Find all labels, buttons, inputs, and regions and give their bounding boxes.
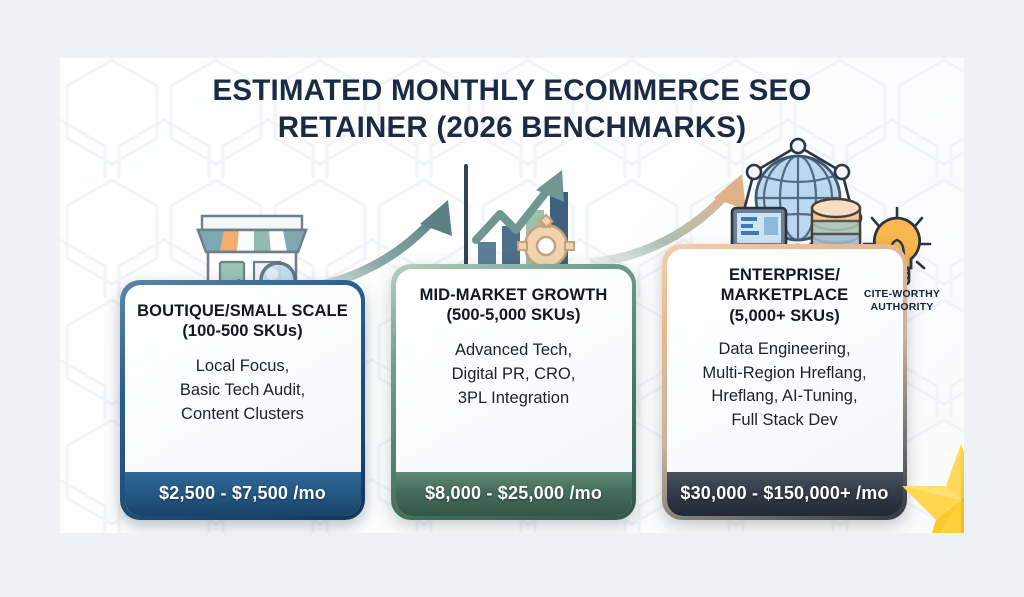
pricing-card-enterprise[interactable]: ENTERPRISE/ MARKETPLACE (5,000+ SKUs) Da… <box>662 244 907 520</box>
badge-line-2: AUTHORITY <box>848 301 956 314</box>
card-services: Advanced Tech, Digital PR, CRO, 3PL Inte… <box>406 339 622 410</box>
card-scale: (500-5,000 SKUs) <box>406 305 622 326</box>
card-price: $30,000 - $150,000+ /mo <box>667 472 903 516</box>
title-line-1: ESTIMATED MONTHLY ECOMMERCE SEO <box>213 74 812 107</box>
badge-line-1: CITE-WORTHY <box>848 288 956 301</box>
pricing-card-boutique[interactable]: BOUTIQUE/SMALL SCALE (100-500 SKUs) Loca… <box>120 280 365 520</box>
card-price: $2,500 - $7,500 /mo <box>125 472 361 516</box>
status-badge: CITE-WORTHY AUTHORITY <box>848 288 956 314</box>
card-price: $8,000 - $25,000 /mo <box>396 472 632 516</box>
title-line-2: RETAINER (2026 BENCHMARKS) <box>60 109 964 146</box>
card-services: Local Focus, Basic Tech Audit, Content C… <box>135 355 351 426</box>
pricing-card-midmarket[interactable]: MID-MARKET GROWTH (500-5,000 SKUs) Advan… <box>391 264 636 520</box>
gold-star-icon <box>898 440 964 533</box>
card-title: MID-MARKET GROWTH <box>406 285 622 306</box>
infographic-canvas: ESTIMATED MONTHLY ECOMMERCE SEO RETAINER… <box>60 58 964 533</box>
page-title: ESTIMATED MONTHLY ECOMMERCE SEO RETAINER… <box>60 72 964 147</box>
card-scale: (100-500 SKUs) <box>135 321 351 342</box>
card-services: Data Engineering, Multi-Region Hreflang,… <box>677 338 893 433</box>
card-title: BOUTIQUE/SMALL SCALE <box>135 301 351 322</box>
